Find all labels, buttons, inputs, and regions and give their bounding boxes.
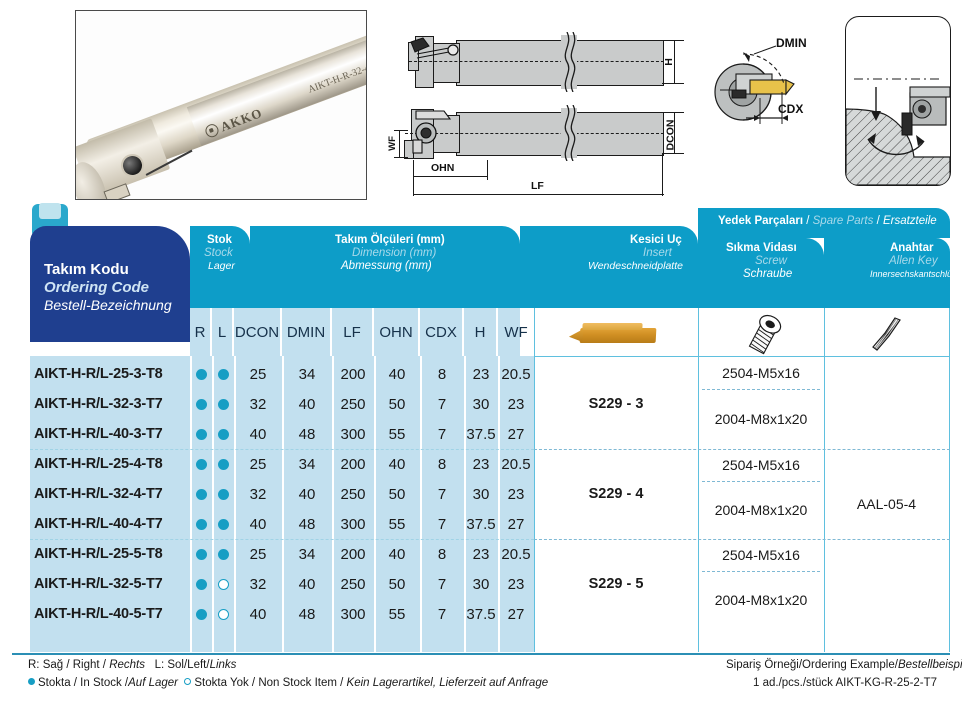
screw-part-5: 2504-M5x16 xyxy=(698,539,824,571)
cell-h: 37.5 xyxy=(464,509,498,539)
cell-cdx: 7 xyxy=(420,599,464,629)
legend-r-text: R: Sağ / Right / xyxy=(28,659,109,671)
insert-group-1: S229 - 3 xyxy=(534,359,698,449)
cell-lf: 200 xyxy=(332,359,374,389)
cell-wf: 27 xyxy=(498,509,534,539)
cell-dmin: 48 xyxy=(282,419,332,449)
cell-cdx: 7 xyxy=(420,479,464,509)
h-ext-bottom xyxy=(662,83,684,84)
stock-l-row2 xyxy=(212,389,234,419)
cell-ohn: 55 xyxy=(374,599,420,629)
stock-r-row3 xyxy=(190,419,212,449)
break-curve-upper xyxy=(558,32,582,92)
stock-dot-filled xyxy=(196,519,207,530)
stock-dot-filled xyxy=(196,399,207,410)
col-header-LF: LF xyxy=(332,308,374,356)
ordering-example-line2: 1 ad./pcs./stück AIKT-KG-R-25-2-T7 xyxy=(753,677,937,689)
cell-cdx: 7 xyxy=(420,509,464,539)
stock-dot-open-legend-icon xyxy=(184,678,191,685)
screw-part-3: 2504-M5x16 xyxy=(698,449,824,481)
cell-cdx: 8 xyxy=(420,359,464,389)
spare-parts-de: Ersatzteile xyxy=(883,215,937,227)
spare-parts-sep1: / xyxy=(803,215,813,227)
legend-nonstock-de: Kein Lagerartikel, Lieferzeit auf Anfrag… xyxy=(347,677,549,689)
table-row[interactable]: AIKT-H-R/L-25-4-T8 xyxy=(12,449,190,479)
stock-l-row3 xyxy=(212,419,234,449)
table-row[interactable]: AIKT-H-R/L-32-5-T7 xyxy=(12,569,190,599)
wf-ext-bottom xyxy=(394,157,408,158)
cell-dcon: 32 xyxy=(234,569,282,599)
stock-r-row5 xyxy=(190,479,212,509)
cell-ohn: 55 xyxy=(374,419,420,449)
bore-operation-diagram xyxy=(845,16,951,186)
dimension-tr: Takım Ölçüleri (mm) xyxy=(335,234,445,248)
stock-r-row9 xyxy=(190,599,212,629)
table-row[interactable]: AIKT-H-R/L-40-4-T7 xyxy=(12,509,190,539)
cell-wf: 20.5 xyxy=(498,359,534,389)
ordering-code-tr: Takım Kodu xyxy=(44,263,129,277)
legend-stock: Stokta / In Stock /Auf Lager Stokta Yok … xyxy=(28,677,548,689)
spare-parts-sep2: / xyxy=(873,215,883,227)
ohn-dim-line xyxy=(413,176,488,177)
allen-key-tr: Anahtar xyxy=(890,242,933,256)
stock-dot-filled xyxy=(218,549,229,560)
legend-instock-de: Auf Lager xyxy=(128,677,178,689)
dimension-en: Dimension (mm) xyxy=(352,247,436,261)
stock-l-row9 xyxy=(212,599,234,629)
stock-dot-open xyxy=(218,579,229,590)
break-curve-lower xyxy=(558,105,582,161)
table-row[interactable]: AIKT-H-R/L-25-3-T8 xyxy=(12,359,190,389)
stock-r-row2 xyxy=(190,389,212,419)
dcon-ext-bottom xyxy=(662,153,684,154)
cell-dcon: 25 xyxy=(234,359,282,389)
insert-de: Wendeschneidplatte xyxy=(588,260,683,274)
product-table: Takım Kodu Ordering Code Bestell-Bezeich… xyxy=(12,208,950,654)
table-row[interactable]: AIKT-H-R/L-40-5-T7 xyxy=(12,599,190,629)
screw-en: Screw xyxy=(755,255,787,269)
wf-ext-top xyxy=(394,130,408,131)
cell-dcon: 40 xyxy=(234,599,282,629)
stock-l-row1 xyxy=(212,359,234,389)
spare-parts-en: Spare Parts xyxy=(813,215,874,227)
stock-dot-filled xyxy=(218,369,229,380)
cell-h: 23 xyxy=(464,359,498,389)
insert-group-3: S229 - 5 xyxy=(534,539,698,629)
cell-dcon: 32 xyxy=(234,479,282,509)
legend-nonstock-text: Stokta Yok / Non Stock Item / xyxy=(194,677,346,689)
cell-cdx: 7 xyxy=(420,569,464,599)
dmin-cdx-svg xyxy=(706,12,831,200)
cell-lf: 200 xyxy=(332,539,374,569)
side-view-clamp-detail xyxy=(409,36,469,76)
wf-dim-line xyxy=(399,130,400,158)
cell-wf: 20.5 xyxy=(498,449,534,479)
table-row[interactable]: AIKT-H-R/L-32-3-T7 xyxy=(12,389,190,419)
stock-l-row8 xyxy=(212,569,234,599)
stock-dot-open xyxy=(218,609,229,620)
legend-l-text: L: Sol/Left/ xyxy=(155,659,210,671)
stock-dot-filled xyxy=(218,399,229,410)
cell-dcon: 40 xyxy=(234,509,282,539)
h-label: H xyxy=(663,58,675,66)
engineering-drawing: H DCON WF OHN xyxy=(393,12,691,200)
cell-dmin: 34 xyxy=(282,539,332,569)
col-header-R: R xyxy=(190,308,212,356)
legend-r-de: Rechts xyxy=(109,659,145,671)
stock-l-row5 xyxy=(212,479,234,509)
allen-key-en: Allen Key xyxy=(889,255,938,269)
stock-r-row6 xyxy=(190,509,212,539)
cell-wf: 23 xyxy=(498,569,534,599)
cell-dmin: 48 xyxy=(282,599,332,629)
cell-lf: 250 xyxy=(332,389,374,419)
illustration-strip: AKKO AIKT-H-R-32-4-T7 AKKO H xyxy=(0,0,962,205)
cell-lf: 300 xyxy=(332,599,374,629)
lf-label: LF xyxy=(531,180,544,192)
ohn-label: OHN xyxy=(431,162,454,174)
cell-lf: 200 xyxy=(332,449,374,479)
cell-wf: 27 xyxy=(498,599,534,629)
ordering-example-tr: Sipariş Örneği/Ordering Example/ xyxy=(726,659,898,671)
insert-en: Insert xyxy=(643,247,672,261)
col-header-DCON: DCON xyxy=(234,308,282,356)
bore-operation-svg xyxy=(846,17,950,185)
legend-l-de: Links xyxy=(210,659,237,671)
insert-group-2: S229 - 4 xyxy=(534,449,698,539)
col-header-H: H xyxy=(464,308,498,356)
col-header-DMIN: DMIN xyxy=(282,308,332,356)
insert-tr: Kesici Uç xyxy=(630,234,682,248)
cell-wf: 23 xyxy=(498,479,534,509)
screw-part-6: 2004-M8x1x20 xyxy=(698,571,824,629)
stock-de: Lager xyxy=(208,260,235,274)
col-header-CDX: CDX xyxy=(420,308,464,356)
stock-dot-filled xyxy=(196,549,207,560)
top-view-seat-detail xyxy=(410,109,462,157)
cell-wf: 27 xyxy=(498,419,534,449)
cell-cdx: 8 xyxy=(420,449,464,479)
screw-de: Schraube xyxy=(743,268,792,282)
stock-en: Stock xyxy=(204,247,233,261)
cdx-label: CDX xyxy=(778,102,803,116)
allen-key-de: Innersechskantschlüssel xyxy=(870,268,962,282)
screw-part-2: 2004-M8x1x20 xyxy=(698,389,824,449)
cell-dcon: 25 xyxy=(234,539,282,569)
cell-dmin: 48 xyxy=(282,509,332,539)
insert-icon xyxy=(580,328,657,343)
product-photo: AKKO AIKT-H-R-32-4-T7 AKKO xyxy=(75,10,367,200)
stock-dot-filled xyxy=(196,429,207,440)
cell-dmin: 34 xyxy=(282,449,332,479)
stock-l-row7 xyxy=(212,539,234,569)
cell-h: 30 xyxy=(464,389,498,419)
screw-part-4: 2004-M8x1x20 xyxy=(698,481,824,539)
stock-dot-filled-legend-icon xyxy=(28,678,35,685)
legend-rl: R: Sağ / Right / Rechts L: Sol/Left/Link… xyxy=(28,659,236,671)
ordering-code-en: Ordering Code xyxy=(44,281,149,295)
cell-dmin: 40 xyxy=(282,569,332,599)
cell-dmin: 34 xyxy=(282,359,332,389)
screw-tr: Sıkma Vidası xyxy=(726,242,797,256)
dimension-de: Abmessung (mm) xyxy=(341,260,432,274)
spare-parts-title: Yedek Parçaları / Spare Parts / Ersatzte… xyxy=(718,215,937,229)
ohn-ext-left xyxy=(413,160,414,180)
allen-key-icon xyxy=(867,312,911,356)
stock-l-row6 xyxy=(212,509,234,539)
stock-dot-filled xyxy=(218,429,229,440)
stock-l-row4 xyxy=(212,449,234,479)
cell-dcon: 25 xyxy=(234,449,282,479)
cell-h: 23 xyxy=(464,449,498,479)
cell-lf: 300 xyxy=(332,419,374,449)
stock-r-row1 xyxy=(190,359,212,389)
stock-r-row4 xyxy=(190,449,212,479)
table-row[interactable]: AIKT-H-R/L-25-5-T8 xyxy=(12,539,190,569)
stock-dot-filled xyxy=(218,519,229,530)
cell-h: 30 xyxy=(464,479,498,509)
cell-ohn: 40 xyxy=(374,449,420,479)
cell-wf: 23 xyxy=(498,389,534,419)
cell-ohn: 50 xyxy=(374,569,420,599)
stock-dot-filled xyxy=(196,489,207,500)
cell-ohn: 55 xyxy=(374,509,420,539)
cell-ohn: 50 xyxy=(374,479,420,509)
cell-ohn: 40 xyxy=(374,539,420,569)
cell-h: 30 xyxy=(464,569,498,599)
table-row[interactable]: AIKT-H-R/L-40-3-T7 xyxy=(12,419,190,449)
ordering-example-line1: Sipariş Örneği/Ordering Example/Bestellb… xyxy=(726,659,962,671)
cell-h: 23 xyxy=(464,539,498,569)
dmin-label: DMIN xyxy=(776,36,807,50)
stock-dot-filled xyxy=(196,459,207,470)
stock-dot-filled xyxy=(196,369,207,380)
dmin-cdx-diagram: DMIN CDX xyxy=(706,12,831,200)
lf-dim-line xyxy=(413,194,664,195)
ohn-ext-right xyxy=(487,160,488,180)
col-header-OHN: OHN xyxy=(374,308,420,356)
wf-label: WF xyxy=(387,136,398,151)
stock-dot-filled xyxy=(218,489,229,500)
lf-ext-left xyxy=(413,178,414,196)
cell-cdx: 8 xyxy=(420,539,464,569)
col-header-WF: WF xyxy=(498,308,534,356)
cell-h: 37.5 xyxy=(464,419,498,449)
screw-icon xyxy=(744,312,786,356)
stock-tr: Stok xyxy=(207,234,232,248)
cell-dmin: 40 xyxy=(282,389,332,419)
stock-r-row8 xyxy=(190,569,212,599)
stock-dot-filled xyxy=(218,459,229,470)
cell-dcon: 32 xyxy=(234,389,282,419)
cell-lf: 250 xyxy=(332,569,374,599)
h-ext-top xyxy=(662,40,684,41)
ordering-example-de: Bestellbeispiel xyxy=(898,659,962,671)
spare-parts-tr: Yedek Parçaları xyxy=(718,215,803,227)
cell-dcon: 40 xyxy=(234,419,282,449)
cell-ohn: 40 xyxy=(374,359,420,389)
stock-dot-filled xyxy=(196,579,207,590)
cell-dmin: 40 xyxy=(282,479,332,509)
ordering-code-de: Bestell-Bezeichnung xyxy=(44,299,172,313)
screw-part-1: 2504-M5x16 xyxy=(698,357,824,389)
legend-instock-text: Stokta / In Stock / xyxy=(38,677,128,689)
dcon-label: DCON xyxy=(664,120,676,151)
cell-lf: 250 xyxy=(332,479,374,509)
allen-key-part: AAL-05-4 xyxy=(824,356,949,652)
table-row[interactable]: AIKT-H-R/L-32-4-T7 xyxy=(12,479,190,509)
cell-ohn: 50 xyxy=(374,389,420,419)
cell-lf: 300 xyxy=(332,509,374,539)
stock-r-row7 xyxy=(190,539,212,569)
table-bottom-rule xyxy=(12,653,950,655)
stock-dot-filled xyxy=(196,609,207,620)
cell-cdx: 7 xyxy=(420,419,464,449)
cell-wf: 20.5 xyxy=(498,539,534,569)
dcon-ext-top xyxy=(662,112,684,113)
cell-h: 37.5 xyxy=(464,599,498,629)
col-header-L: L xyxy=(212,308,234,356)
vline-table-right xyxy=(949,308,950,652)
lf-ext-right xyxy=(662,154,663,196)
cell-cdx: 7 xyxy=(420,389,464,419)
